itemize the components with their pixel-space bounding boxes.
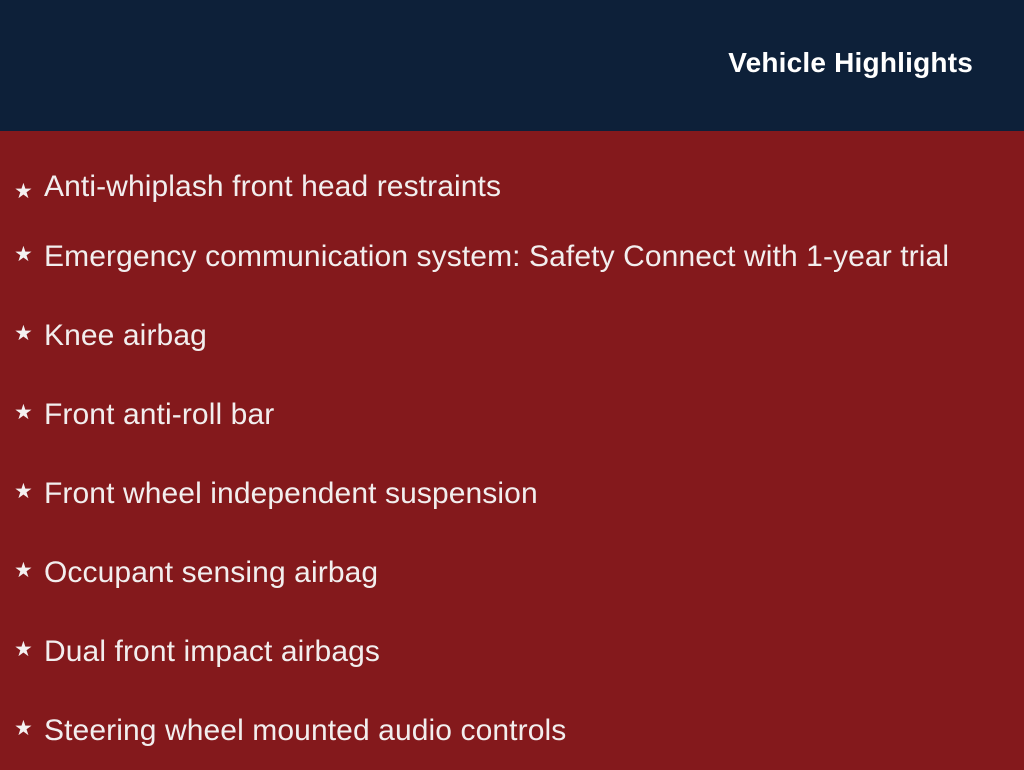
slide-vehicle-highlights: Vehicle Highlights ★ Anti-whiplash front… — [0, 0, 1024, 768]
star-bullet-icon: ★ — [14, 181, 44, 202]
star-bullet-icon: ★ — [14, 244, 44, 265]
star-bullet-icon: ★ — [14, 402, 44, 423]
star-bullet-icon: ★ — [14, 560, 44, 581]
list-item-label: Front anti-roll bar — [44, 398, 1024, 432]
list-item-label: Front wheel independent suspension — [44, 477, 1024, 511]
vehicle-highlights-list: ★ Anti-whiplash front head restraints ★ … — [0, 131, 1024, 770]
list-item: ★ Occupant sensing airbag — [0, 533, 1024, 612]
list-item: ★ Dual front impact airbags — [0, 612, 1024, 691]
star-bullet-icon: ★ — [14, 323, 44, 344]
list-item-label: Knee airbag — [44, 319, 1024, 353]
list-item-label: Steering wheel mounted audio controls — [44, 714, 1024, 748]
list-item: ★ Knee airbag — [0, 296, 1024, 375]
list-item: ★ Steering wheel mounted audio controls — [0, 691, 1024, 770]
list-item-label: Anti-whiplash front head restraints — [44, 170, 1024, 204]
list-item-label: Dual front impact airbags — [44, 635, 1024, 669]
star-bullet-icon: ★ — [14, 481, 44, 502]
slide-header-band: Vehicle Highlights — [0, 0, 1024, 131]
list-item: ★ Emergency communication system: Safety… — [0, 217, 1024, 296]
star-bullet-icon: ★ — [14, 639, 44, 660]
star-bullet-icon: ★ — [14, 718, 44, 739]
list-item: ★ Front anti-roll bar — [0, 375, 1024, 454]
list-item: ★ Anti-whiplash front head restraints — [0, 131, 1024, 217]
slide-body: ★ Anti-whiplash front head restraints ★ … — [0, 131, 1024, 768]
page-title: Vehicle Highlights — [728, 46, 973, 80]
list-item-label: Occupant sensing airbag — [44, 556, 1024, 590]
list-item-label: Emergency communication system: Safety C… — [44, 240, 1024, 274]
list-item: ★ Front wheel independent suspension — [0, 454, 1024, 533]
